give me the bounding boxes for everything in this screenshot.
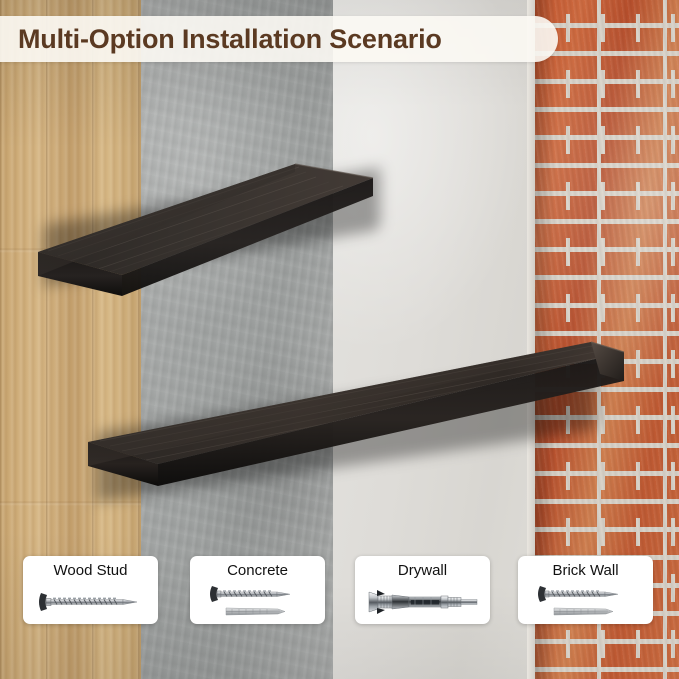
spec-card-label: Drywall	[398, 562, 447, 579]
fastener-illustration-screw-with-anchor	[190, 579, 325, 624]
spec-card-brick-wall[interactable]: Brick Wall	[518, 556, 653, 624]
screw-with-wall-anchor-icon	[530, 585, 642, 619]
spec-card-label: Brick Wall	[552, 562, 618, 579]
fastener-illustration-screw-with-anchor-brick	[518, 579, 653, 624]
spec-card-label: Concrete	[227, 562, 288, 579]
title-banner: Multi-Option Installation Scenario	[0, 16, 558, 62]
spec-card-wood-stud[interactable]: Wood Stud	[23, 556, 158, 624]
spec-card-concrete[interactable]: Concrete	[190, 556, 325, 624]
page-title: Multi-Option Installation Scenario	[18, 24, 442, 55]
wood-screw-icon	[35, 589, 147, 615]
screw-with-wall-anchor-icon	[202, 585, 314, 619]
spec-card-drywall[interactable]: Drywall	[355, 556, 490, 624]
fastener-illustration-molly-bolt	[355, 579, 490, 624]
product-lifestyle-image: Multi-Option Installation Scenario Wood …	[0, 0, 679, 679]
fastener-illustration-wood-screw	[23, 579, 158, 624]
molly-bolt-anchor-icon	[363, 587, 483, 617]
spec-card-label: Wood Stud	[54, 562, 128, 579]
